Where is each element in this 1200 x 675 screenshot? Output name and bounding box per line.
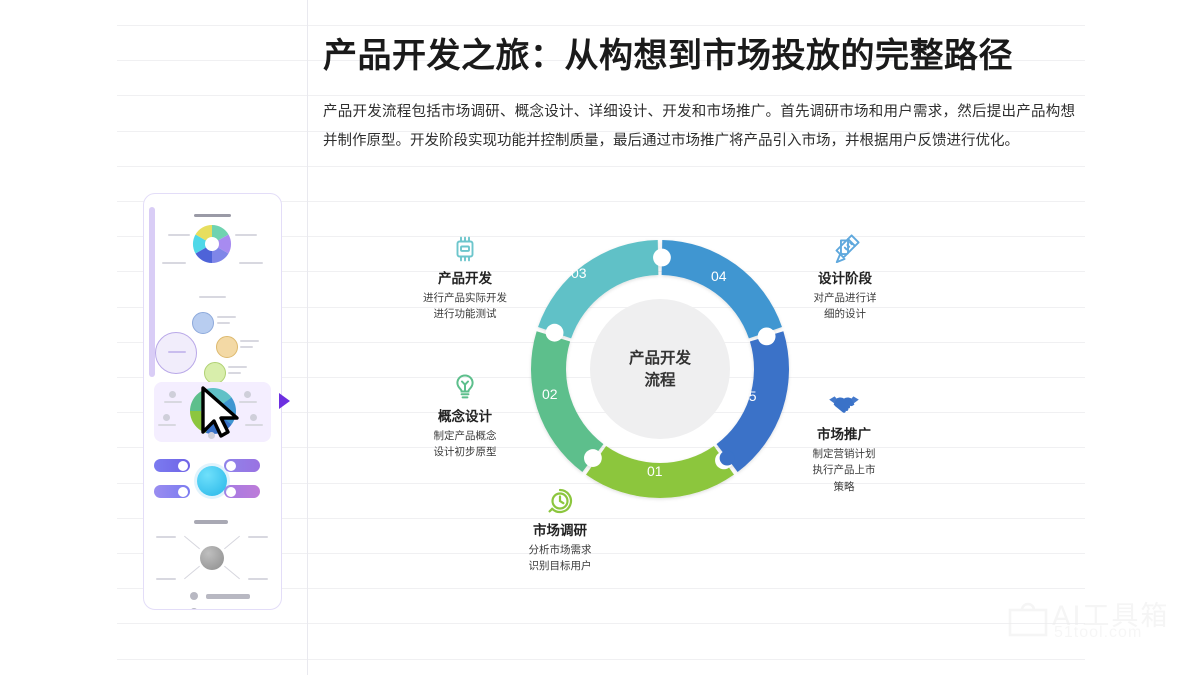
process-donut-chart: 产品开发 流程 03 04 05 01 02 [519,228,801,510]
handshake-icon [785,388,903,422]
callout-desc-line-2: 细的设计 [790,306,900,322]
grid-line [117,95,1085,96]
toggle-pill [154,485,190,498]
callout-market-research[interactable]: 市场调研 分析市场需求 识别目标用户 [495,484,625,575]
mouse-cursor-icon [200,386,244,438]
slide-canvas: 产品开发之旅：从构想到市场投放的完整路径 产品开发流程包括市场调研、概念设计、详… [0,0,1200,675]
chip-icon [405,232,525,266]
thumbnail-toggle-pills-template[interactable] [154,452,271,512]
callout-desc-line-2: 执行产品上市 [785,462,903,478]
callout-title: 产品开发 [405,270,525,288]
toggle-pill [224,485,260,498]
callout-design-stage[interactable]: 设计阶段 对产品进行详 细的设计 [790,232,900,323]
callout-product-development[interactable]: 产品开发 进行产品实际开发 进行功能测试 [405,232,525,323]
center-line-1: 产品开发 [629,347,691,369]
center-node [197,466,227,496]
watermark: AI工具箱 51tool.com [1006,596,1176,648]
lightbulb-icon [405,370,525,404]
callout-desc-line-3: 策略 [785,479,903,495]
segment-socket [758,328,776,346]
callout-desc-line-2: 识别目标用户 [495,558,625,574]
callout-title: 市场推广 [785,426,903,444]
pencil-ruler-icon [790,232,900,266]
callout-desc-line-2: 进行功能测试 [405,306,525,322]
segment-socket [653,249,671,267]
grid-line [117,25,1085,26]
callout-desc-line-1: 进行产品实际开发 [405,290,525,306]
toggle-pill [154,459,190,472]
callout-title: 市场调研 [495,522,625,540]
thumbnail-bubble-cluster-template[interactable] [154,312,271,380]
callout-desc-line-2: 设计初步原型 [405,444,525,460]
callout-desc-line-1: 对产品进行详 [790,290,900,306]
callout-concept-design[interactable]: 概念设计 制定产品概念 设计初步原型 [405,370,525,461]
hub-node [200,546,224,570]
segment-socket [546,324,564,342]
page-description: 产品开发流程包括市场调研、概念设计、详细设计、开发和市场推广。首先调研市场和用户… [323,98,1075,156]
segment-number-02: 02 [542,386,558,402]
callout-title: 概念设计 [405,408,525,426]
thumbnail-radial-hub-template[interactable] [154,520,271,586]
thumbnail-list-template[interactable] [154,592,271,610]
segment-knob [720,451,735,466]
donut-center-label: 产品开发 流程 [590,299,730,439]
segment-number-04: 04 [711,268,727,284]
grid-line [117,166,1085,167]
expand-play-button[interactable] [279,393,290,409]
callout-desc-line-1: 制定营销计划 [785,446,903,462]
center-line-2: 流程 [644,369,675,391]
callout-desc-line-1: 分析市场需求 [495,542,625,558]
thumbnail-gear-wheel-template[interactable] [154,202,271,310]
grid-vertical-line [307,0,308,675]
callout-market-promotion[interactable]: 市场推广 制定营销计划 执行产品上市 策略 [785,388,903,495]
segment-number-03: 03 [571,265,587,281]
segment-number-05: 05 [741,388,757,404]
gear-icon [192,224,232,264]
clock-icon [495,484,625,518]
grid-line [117,623,1085,624]
toggle-pill [224,459,260,472]
callout-title: 设计阶段 [790,270,900,288]
segment-number-01: 01 [647,463,663,479]
callout-desc-line-1: 制定产品概念 [405,428,525,444]
page-title: 产品开发之旅：从构想到市场投放的完整路径 [323,36,1063,77]
grid-line [117,659,1085,660]
watermark-site: 51tool.com [1054,624,1142,642]
segment-socket [584,449,602,467]
